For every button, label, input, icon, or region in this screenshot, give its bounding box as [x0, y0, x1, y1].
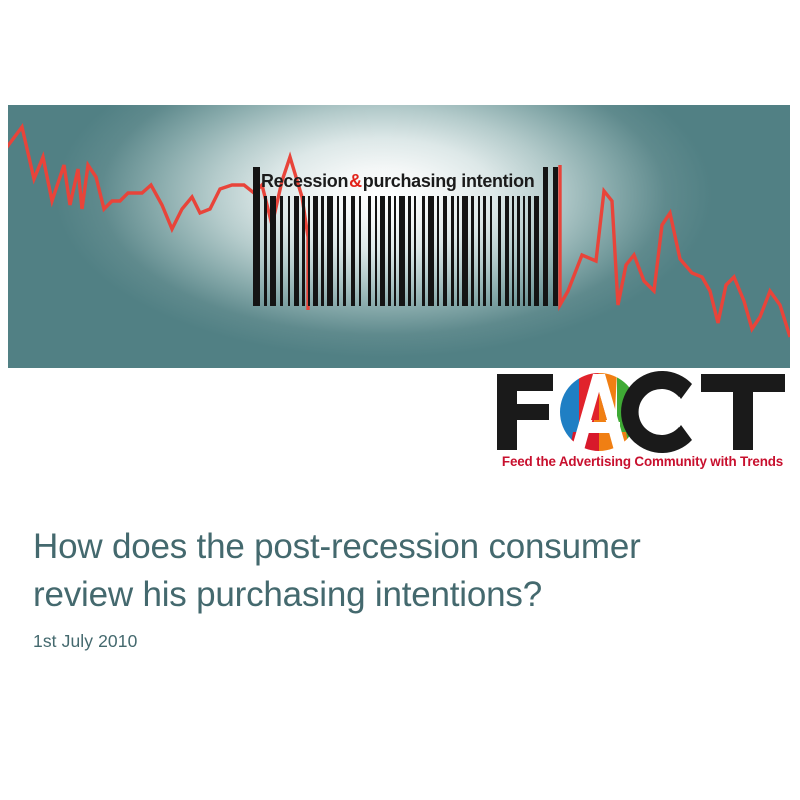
barcode-label-ampersand: & — [348, 170, 363, 192]
fact-wordmark-graphic — [493, 370, 790, 454]
letter-f-shape — [497, 374, 553, 450]
letter-t-shape — [701, 374, 785, 450]
page-title: How does the post-recession consumer rev… — [33, 523, 753, 619]
barcode-graphic: Recession & purchasing intention — [247, 167, 561, 306]
fact-logo: Feed the Advertising Community with Tren… — [493, 370, 790, 478]
barcode-label: Recession & purchasing intention — [261, 167, 546, 194]
barcode-label-prefix: Recession — [261, 170, 348, 192]
page-title-line-2: review his purchasing intentions? — [33, 571, 753, 619]
barcode-label-suffix: purchasing intention — [363, 170, 535, 192]
fact-wordmark — [493, 370, 790, 454]
publication-date: 1st July 2010 — [33, 631, 137, 652]
hero-banner: Recession & purchasing intention — [8, 105, 790, 368]
page-title-line-1: How does the post-recession consumer — [33, 527, 641, 566]
fact-tagline: Feed the Advertising Community with Tren… — [495, 454, 790, 469]
banner-artwork: Recession & purchasing intention — [8, 105, 790, 368]
